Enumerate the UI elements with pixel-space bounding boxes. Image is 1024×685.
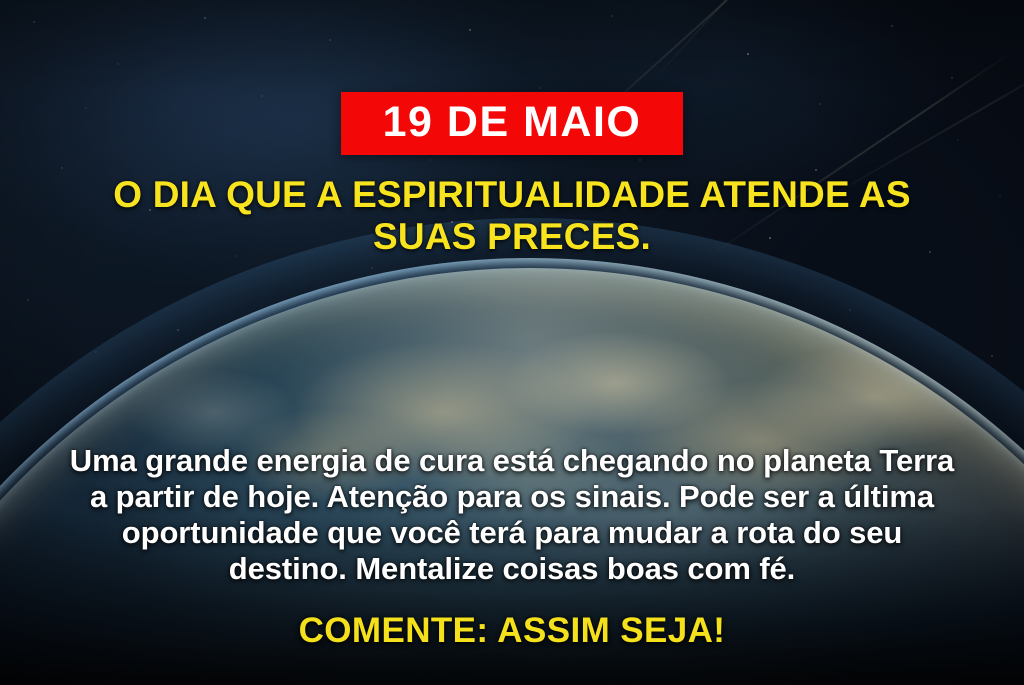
poster-content: 19 DE MAIO O DIA QUE A ESPIRITUALIDADE A… (0, 0, 1024, 685)
body-paragraph: Uma grande energia de cura está chegando… (62, 443, 962, 587)
call-to-action-text: COMENTE: ASSIM SEJA! (299, 613, 726, 648)
poster-canvas: 19 DE MAIO O DIA QUE A ESPIRITUALIDADE A… (0, 0, 1024, 685)
headline-text: O DIA QUE A ESPIRITUALIDADE ATENDE AS SU… (72, 174, 952, 258)
date-banner: 19 DE MAIO (341, 92, 684, 155)
